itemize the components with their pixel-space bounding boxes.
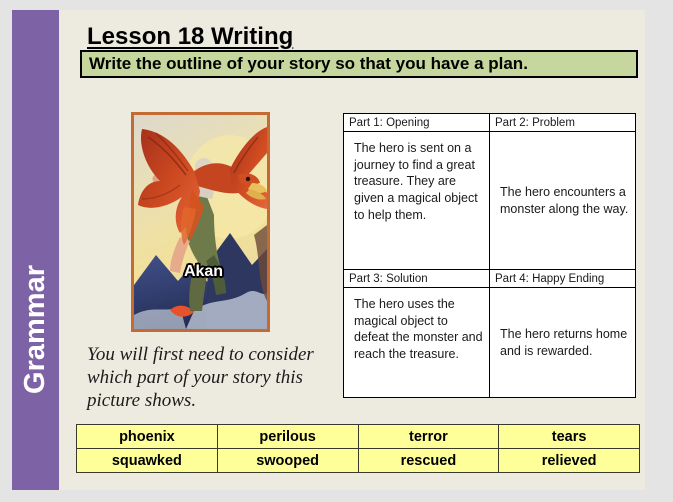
sidebar-subject-label: Grammar xyxy=(12,265,59,394)
story-cell-heading-2: Part 2: Problem xyxy=(490,114,636,132)
objective-banner: Write the outline of your story so that … xyxy=(80,50,638,78)
vocab-word: rescued xyxy=(358,449,499,473)
story-cell-body-3: The hero uses the magical object to defe… xyxy=(344,288,490,398)
story-cell-body-2: The hero encounters a monster along the … xyxy=(490,132,636,270)
slide-canvas: Grammar Lesson 18 Writing Write the outl… xyxy=(12,10,645,490)
vocab-word: squawked xyxy=(77,449,218,473)
vocabulary-table: phoenix perilous terror tears squawked s… xyxy=(76,424,640,473)
table-row: Part 1: Opening Part 2: Problem xyxy=(344,114,636,132)
vocab-word: swooped xyxy=(217,449,358,473)
story-cell-heading-3: Part 3: Solution xyxy=(344,270,490,288)
story-cell-body-4: The hero returns home and is rewarded. xyxy=(490,288,636,398)
phoenix-illustration-svg xyxy=(134,115,267,329)
vocab-word: tears xyxy=(499,425,640,449)
vocab-word: relieved xyxy=(499,449,640,473)
story-cell-body-1: The hero is sent on a journey to find a … xyxy=(344,132,490,270)
table-row: The hero uses the magical object to defe… xyxy=(344,288,636,398)
vocab-word: phoenix xyxy=(77,425,218,449)
subject-sidebar: Grammar xyxy=(12,10,59,490)
vocab-word: terror xyxy=(358,425,499,449)
objective-banner-text: Write the outline of your story so that … xyxy=(89,54,528,74)
page-title: Lesson 18 Writing xyxy=(87,23,293,51)
story-cell-heading-1: Part 1: Opening xyxy=(344,114,490,132)
table-row: phoenix perilous terror tears xyxy=(77,425,640,449)
table-row: squawked swooped rescued relieved xyxy=(77,449,640,473)
story-cell-heading-4: Part 4: Happy Ending xyxy=(490,270,636,288)
table-row: Part 3: Solution Part 4: Happy Ending xyxy=(344,270,636,288)
story-structure-table: Part 1: Opening Part 2: Problem The hero… xyxy=(343,113,636,398)
prompt-text: You will first need to consider which pa… xyxy=(87,343,332,413)
vocab-word: perilous xyxy=(217,425,358,449)
story-illustration: Akan xyxy=(131,112,270,332)
table-row: The hero is sent on a journey to find a … xyxy=(344,132,636,270)
